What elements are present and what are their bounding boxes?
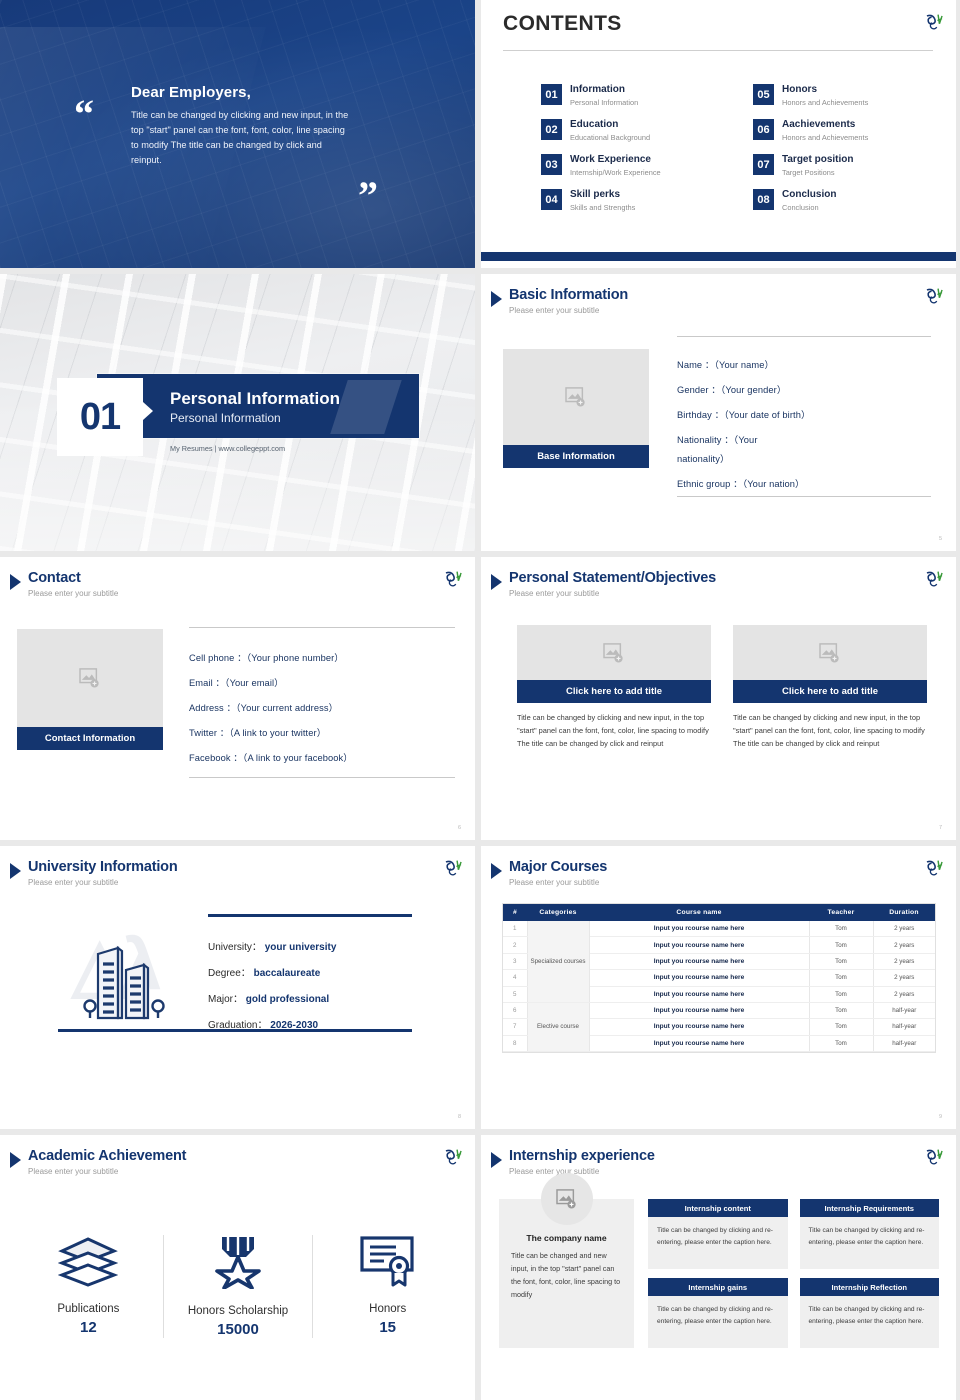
table-header-row: # Categories Course name Teacher Duratio…: [503, 904, 935, 921]
cell-index: 1: [503, 921, 527, 937]
internship-card-requirements[interactable]: Internship Requirements Title can be cha…: [800, 1199, 940, 1269]
graduation-row: Graduation： 2026-2030: [208, 1016, 336, 1031]
image-placeholder[interactable]: [517, 625, 711, 680]
page-title: Major Courses: [509, 860, 607, 876]
stat-label: Publications: [57, 1303, 119, 1315]
slide-academic-achievement[interactable]: Academic Achievement Please enter your s…: [0, 1135, 475, 1400]
page-subtitle: Please enter your subtitle: [28, 878, 178, 887]
slide-header: Contact Please enter your subtitle: [10, 571, 118, 598]
statement-card[interactable]: Click here to add title Title can be cha…: [517, 625, 711, 751]
cell-duration: 2 years: [873, 986, 935, 1002]
cell-course-name: Input you rcourse name here: [589, 921, 809, 937]
brand-logo-icon: [923, 286, 944, 307]
field-label: University：: [208, 942, 262, 953]
cell-duration: 2 years: [873, 970, 935, 986]
internship-layout: The company name Title can be changed an…: [499, 1199, 939, 1348]
company-description: Title can be changed and new input, in t…: [511, 1250, 622, 1302]
cell-index: 6: [503, 1002, 527, 1018]
image-add-icon: [819, 643, 841, 663]
brand-logo-icon: [442, 569, 463, 590]
cell-course-name: Input you rcourse name here: [589, 1002, 809, 1018]
photo-block[interactable]: Base Information: [503, 349, 649, 468]
cell-course-name: Input you rcourse name here: [589, 970, 809, 986]
cell-index: 5: [503, 986, 527, 1002]
field-label: Degree：: [208, 968, 251, 979]
cell-course-name: Input you rcourse name here: [589, 1019, 809, 1035]
toc-label: Education: [570, 119, 650, 132]
toc-label: Conclusion: [782, 189, 836, 202]
page-subtitle: Please enter your subtitle: [28, 1167, 186, 1176]
col-index: #: [503, 904, 527, 921]
statement-card[interactable]: Click here to add title Title can be cha…: [733, 625, 927, 751]
cell-index: 7: [503, 1019, 527, 1035]
cell-teacher: Tom: [809, 1035, 873, 1051]
info-list: Cell phone ：（Your phone number） Email ：（…: [189, 627, 455, 778]
cell-category-specialized: Specialized courses: [527, 921, 589, 1002]
add-title-button[interactable]: Click here to add title: [733, 680, 927, 703]
card-text: Title can be changed by clicking and re-…: [800, 1217, 940, 1269]
divider-bottom: [677, 496, 931, 497]
info-row-cellphone: Cell phone ：（Your phone number）: [189, 644, 455, 669]
image-placeholder[interactable]: [733, 625, 927, 680]
section-title: Personal Information: [170, 389, 340, 409]
slide-header: University Information Please enter your…: [10, 860, 178, 887]
info-list: Name ：（Your name） Gender ：（Your gender） …: [677, 336, 931, 497]
toc-number: 01: [541, 84, 562, 105]
building-icon: [82, 938, 178, 1026]
cell-index: 4: [503, 970, 527, 986]
image-add-icon: [79, 668, 101, 688]
stat-label: Honors: [369, 1303, 406, 1315]
section-number-box: 01: [57, 378, 143, 456]
page-subtitle: Please enter your subtitle: [28, 589, 118, 598]
page-number: 9: [939, 1114, 942, 1120]
cell-course-name: Input you rcourse name here: [589, 953, 809, 969]
internship-card-content[interactable]: Internship content Title can be changed …: [648, 1199, 788, 1269]
cover-title: Dear Employers,: [131, 84, 351, 101]
slide-personal-statement[interactable]: Personal Statement/Objectives Please ent…: [481, 557, 956, 840]
slide-cover[interactable]: “ ” Dear Employers, Title can be changed…: [0, 0, 475, 268]
cell-index: 2: [503, 937, 527, 953]
image-placeholder[interactable]: [503, 349, 649, 445]
toc-item-04[interactable]: 04 Skill perks Skills and Strengths: [541, 189, 729, 212]
cell-course-name: Input you rcourse name here: [589, 1035, 809, 1051]
page-title: University Information: [28, 860, 178, 876]
degree-row: Degree： baccalaureate: [208, 964, 336, 979]
cell-duration: 2 years: [873, 937, 935, 953]
toc-number: 02: [541, 119, 562, 140]
slide-header: Internship experience Please enter your …: [491, 1149, 655, 1176]
toc-item-08[interactable]: 08 Conclusion Conclusion: [753, 189, 941, 212]
statement-cards: Click here to add title Title can be cha…: [517, 625, 927, 751]
slide-contact[interactable]: Contact Please enter your subtitle Conta…: [0, 557, 475, 840]
slide-section-divider[interactable]: 01 Personal Information Personal Informa…: [0, 274, 475, 551]
achievement-stats: Publications 12 Honors Scholarship 15000: [14, 1235, 462, 1338]
col-duration: Duration: [873, 904, 935, 921]
table-row[interactable]: 6 Elective course Input you rcourse name…: [503, 1002, 935, 1018]
rule-top: [208, 914, 412, 917]
page-number: 5: [939, 536, 942, 542]
cell-teacher: Tom: [809, 1002, 873, 1018]
col-teacher: Teacher: [809, 904, 873, 921]
internship-cards: Internship content Title can be changed …: [648, 1199, 939, 1348]
slide-major-courses[interactable]: Major Courses Please enter your subtitle…: [481, 846, 956, 1129]
info-row-nationality-cont: nationality）: [677, 451, 931, 471]
toc-number: 03: [541, 154, 562, 175]
cell-duration: 2 years: [873, 953, 935, 969]
triangle-bullet-icon: [491, 863, 502, 879]
brand-logo-icon: [923, 1147, 944, 1168]
field-value: gold professional: [246, 994, 329, 1005]
info-row-name: Name ：（Your name）: [677, 351, 931, 376]
table-of-contents: 01 Information Personal Information 05 H…: [541, 84, 941, 213]
card-heading: Internship content: [648, 1199, 788, 1217]
slide-contents[interactable]: CONTENTS 01 Information Personal Informa…: [481, 0, 956, 268]
toc-number: 04: [541, 189, 562, 210]
cell-duration: half-year: [873, 1035, 935, 1051]
toc-item-06[interactable]: 06 Aachievements Honors and Achievements: [753, 119, 941, 142]
field-value: your university: [265, 942, 337, 953]
triangle-bullet-icon: [10, 1152, 21, 1168]
cell-duration: half-year: [873, 1019, 935, 1035]
slide-grid: “ ” Dear Employers, Title can be changed…: [0, 0, 960, 1400]
cell-duration: half-year: [873, 1002, 935, 1018]
toc-label: Aachievements: [782, 119, 868, 132]
section-footer: My Resumes | www.collegeppt.com: [170, 444, 285, 453]
toc-label: Target position: [782, 154, 853, 167]
cell-teacher: Tom: [809, 970, 873, 986]
section-subtitle: Personal Information: [170, 411, 340, 425]
cell-course-name: Input you rcourse name here: [589, 986, 809, 1002]
slide-university-information[interactable]: University Information Please enter your…: [0, 846, 475, 1129]
field-label: Major：: [208, 994, 243, 1005]
page-subtitle: Please enter your subtitle: [509, 878, 607, 887]
cell-teacher: Tom: [809, 921, 873, 937]
page-title: Academic Achievement: [28, 1149, 186, 1165]
cell-index: 8: [503, 1035, 527, 1051]
divider: [503, 50, 933, 51]
cover-text-block: Dear Employers, Title can be changed by …: [131, 84, 351, 168]
field-value: baccalaureate: [254, 968, 321, 979]
triangle-bullet-icon: [491, 291, 502, 307]
statement-text: Title can be changed by clicking and new…: [733, 712, 927, 751]
page-number: 7: [939, 825, 942, 831]
toc-item-01[interactable]: 01 Information Personal Information: [541, 84, 729, 107]
col-course-name: Course name: [589, 904, 809, 921]
toc-item-03[interactable]: 03 Work Experience Internship/Work Exper…: [541, 154, 729, 177]
toc-sublabel: Honors and Achievements: [782, 133, 868, 143]
page-number: 8: [458, 1114, 461, 1120]
courses-table[interactable]: # Categories Course name Teacher Duratio…: [503, 904, 935, 1052]
card-text: Title can be changed by clicking and re-…: [648, 1217, 788, 1269]
toc-item-02[interactable]: 02 Education Educational Background: [541, 119, 729, 142]
toc-number: 05: [753, 84, 774, 105]
page-number: 6: [458, 825, 461, 831]
image-placeholder[interactable]: [17, 629, 163, 727]
toc-sublabel: Skills and Strengths: [570, 203, 635, 213]
brand-logo-icon: [923, 858, 944, 879]
info-row-facebook: Facebook ：（A link to your facebook）: [189, 744, 455, 769]
info-row-email: Email ：（Your email）: [189, 669, 455, 694]
certificate-icon: [359, 1235, 417, 1287]
university-details: University： your university Degree： bacc…: [208, 938, 336, 1042]
page-title: CONTENTS: [503, 12, 622, 36]
page-subtitle: Please enter your subtitle: [509, 1167, 655, 1176]
cell-teacher: Tom: [809, 953, 873, 969]
divider-bottom: [189, 777, 455, 778]
slide-header: Personal Statement/Objectives Please ent…: [491, 571, 716, 598]
cell-teacher: Tom: [809, 1019, 873, 1035]
page-subtitle: Please enter your subtitle: [509, 589, 716, 598]
card-text: Title can be changed by clicking and re-…: [648, 1296, 788, 1348]
image-add-icon: [603, 643, 625, 663]
slide-header: Basic Information Please enter your subt…: [491, 288, 628, 315]
toc-number: 07: [753, 154, 774, 175]
cell-teacher: Tom: [809, 986, 873, 1002]
card-text: Title can be changed by clicking and re-…: [800, 1296, 940, 1348]
info-row-twitter: Twitter ：（A link to your twitter）: [189, 719, 455, 744]
info-row-gender: Gender ：（Your gender）: [677, 376, 931, 401]
stat-value: 15: [379, 1319, 396, 1336]
image-add-icon: [556, 1189, 578, 1209]
card-heading: Internship Requirements: [800, 1199, 940, 1217]
page-title: Internship experience: [509, 1149, 655, 1165]
page-title: Personal Statement/Objectives: [509, 571, 716, 587]
internship-card-reflection[interactable]: Internship Reflection Title can be chang…: [800, 1278, 940, 1348]
table-row[interactable]: 1 Specialized courses Input you rcourse …: [503, 921, 935, 937]
company-name: The company name: [511, 1233, 622, 1243]
add-title-button[interactable]: Click here to add title: [517, 680, 711, 703]
books-icon: [58, 1235, 118, 1287]
cell-duration: 2 years: [873, 921, 935, 937]
slide-internship-experience[interactable]: Internship experience Please enter your …: [481, 1135, 956, 1400]
photo-block[interactable]: Contact Information: [17, 629, 163, 750]
slide-basic-information[interactable]: Basic Information Please enter your subt…: [481, 274, 956, 551]
cover-body-text: Title can be changed by clicking and new…: [131, 108, 351, 168]
photo-caption: Contact Information: [17, 727, 163, 750]
stat-label: Honors Scholarship: [188, 1305, 288, 1317]
brand-logo-icon: [923, 12, 944, 33]
slide-header: Major Courses Please enter your subtitle: [491, 860, 607, 887]
statement-text: Title can be changed by clicking and new…: [517, 712, 711, 751]
brand-logo-icon: [442, 858, 463, 879]
university-row: University： your university: [208, 938, 336, 953]
image-placeholder[interactable]: [541, 1173, 593, 1225]
major-row: Major： gold professional: [208, 990, 336, 1005]
triangle-bullet-icon: [491, 574, 502, 590]
university-panel: △λ University： your university Degree： b…: [58, 914, 412, 1032]
company-panel[interactable]: The company name Title can be changed an…: [499, 1199, 634, 1348]
toc-sublabel: Internship/Work Experience: [570, 168, 661, 178]
section-arrow-icon: [143, 402, 153, 420]
footer-bar: [481, 252, 956, 261]
section-text-block: Personal Information Personal Informatio…: [170, 389, 340, 425]
info-row-address: Address ：（Your current address）: [189, 694, 455, 719]
stat-publications[interactable]: Publications 12: [14, 1235, 163, 1338]
info-row-nationality: Nationality ：（Your: [677, 426, 931, 451]
toc-sublabel: Target Positions: [782, 168, 853, 178]
toc-item-05[interactable]: 05 Honors Honors and Achievements: [753, 84, 941, 107]
triangle-bullet-icon: [10, 863, 21, 879]
card-heading: Internship gains: [648, 1278, 788, 1296]
quote-open-icon: “: [74, 100, 94, 128]
toc-label: Work Experience: [570, 154, 661, 167]
info-row-birthday: Birthday ：（Your date of birth）: [677, 401, 931, 426]
toc-number: 08: [753, 189, 774, 210]
field-value: 2026-2030: [270, 1020, 318, 1031]
col-categories: Categories: [527, 904, 589, 921]
info-row-ethnic: Ethnic group ：（Your nation）: [677, 471, 931, 496]
field-label: Graduation：: [208, 1020, 267, 1031]
brand-logo-icon: [923, 569, 944, 590]
cell-index: 3: [503, 953, 527, 969]
page-title: Contact: [28, 571, 118, 587]
toc-sublabel: Personal Information: [570, 98, 638, 108]
toc-number: 06: [753, 119, 774, 140]
image-add-icon: [565, 387, 587, 407]
toc-sublabel: Conclusion: [782, 203, 836, 213]
cell-teacher: Tom: [809, 937, 873, 953]
medal-icon: [212, 1235, 264, 1289]
toc-item-07[interactable]: 07 Target position Target Positions: [753, 154, 941, 177]
stat-value: 12: [80, 1319, 97, 1336]
cell-course-name: Input you rcourse name here: [589, 937, 809, 953]
toc-label: Skill perks: [570, 189, 635, 202]
stat-honors[interactable]: Honors 15: [312, 1235, 462, 1338]
cell-category-elective: Elective course: [527, 1002, 589, 1051]
section-number: 01: [80, 396, 120, 439]
page-title: Basic Information: [509, 288, 628, 304]
page-subtitle: Please enter your subtitle: [509, 306, 628, 315]
photo-caption: Base Information: [503, 445, 649, 468]
brand-logo-icon: [442, 1147, 463, 1168]
quote-close-icon: ”: [358, 182, 378, 210]
card-heading: Internship Reflection: [800, 1278, 940, 1296]
internship-card-gains[interactable]: Internship gains Title can be changed by…: [648, 1278, 788, 1348]
stat-honors-scholarship[interactable]: Honors Scholarship 15000: [163, 1235, 313, 1338]
triangle-bullet-icon: [491, 1152, 502, 1168]
toc-sublabel: Honors and Achievements: [782, 98, 868, 108]
toc-label: Honors: [782, 84, 868, 97]
stat-value: 15000: [217, 1321, 259, 1338]
triangle-bullet-icon: [10, 574, 21, 590]
toc-label: Information: [570, 84, 638, 97]
slide-header: Academic Achievement Please enter your s…: [10, 1149, 186, 1176]
toc-sublabel: Educational Background: [570, 133, 650, 143]
